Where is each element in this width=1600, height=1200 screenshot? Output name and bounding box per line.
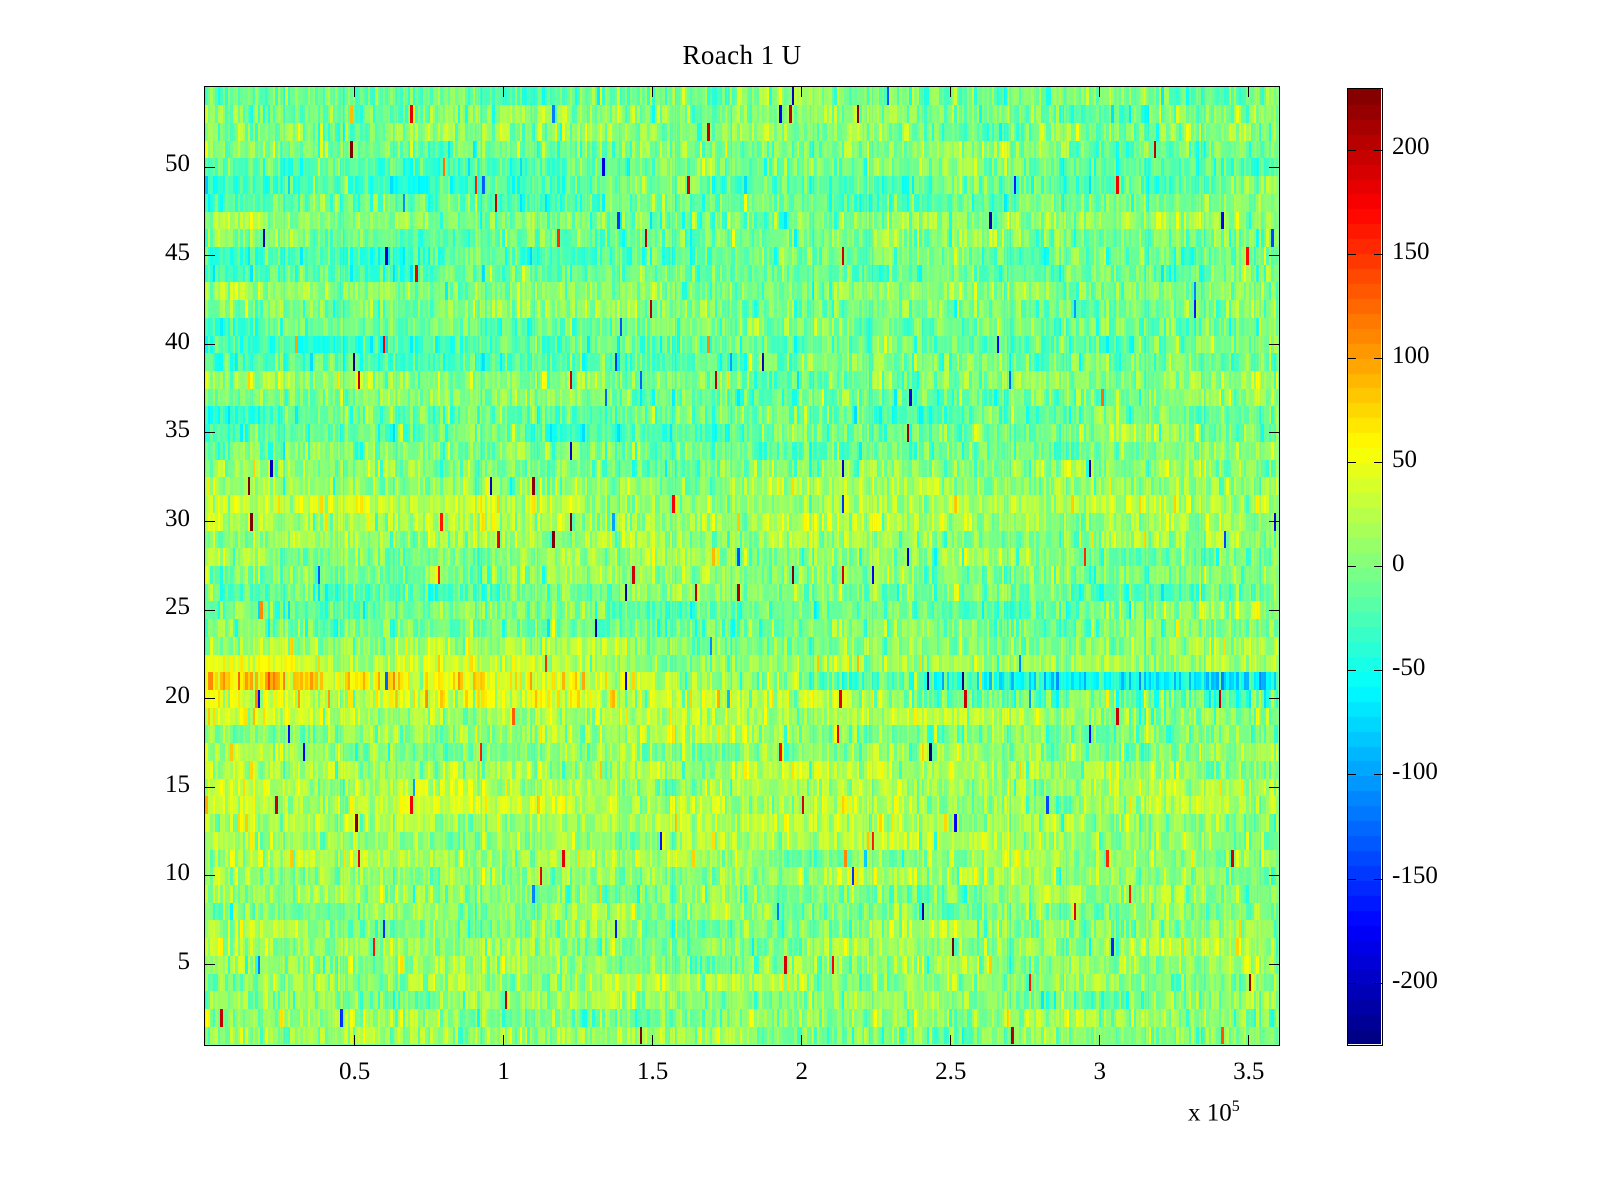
- y-tick-right-15: [1269, 787, 1280, 788]
- y-tick-label: 40: [120, 328, 190, 356]
- colorbar-tick-label: 50: [1392, 446, 1417, 474]
- y-tick-label: 30: [120, 505, 190, 533]
- colorbar-tick-label: -100: [1392, 758, 1438, 786]
- y-tick-right-50: [1269, 167, 1280, 168]
- y-tick-label: 25: [120, 593, 190, 621]
- x-tick-label: 1.5: [593, 1058, 713, 1086]
- y-tick-left-45: [204, 255, 215, 256]
- colorbar-tick-label: -200: [1392, 967, 1438, 995]
- colorbar-tick-left-100: [1347, 358, 1356, 359]
- y-tick-left-5: [204, 964, 215, 965]
- x-tick-label: 3: [1040, 1058, 1160, 1086]
- y-tick-right-45: [1269, 255, 1280, 256]
- y-tick-left-10: [204, 875, 215, 876]
- figure-title: Roach 1 U: [0, 40, 1484, 71]
- y-tick-right-35: [1269, 432, 1280, 433]
- x-tick-bottom-1.5: [652, 1035, 653, 1046]
- colorbar-tick-right--200: [1374, 983, 1383, 984]
- y-tick-left-30: [204, 521, 215, 522]
- y-tick-right-10: [1269, 875, 1280, 876]
- colorbar-tick-label: 150: [1392, 238, 1430, 266]
- y-tick-right-5: [1269, 964, 1280, 965]
- colorbar-tick-right-100: [1374, 358, 1383, 359]
- x-tick-top-0.5: [354, 86, 355, 97]
- colorbar-tick-label: -150: [1392, 862, 1438, 890]
- x-tick-top-3: [1099, 86, 1100, 97]
- y-tick-label: 10: [120, 859, 190, 887]
- colorbar-tick-left--100: [1347, 774, 1356, 775]
- y-tick-left-40: [204, 344, 215, 345]
- exponent-prefix: x 10: [1188, 1099, 1232, 1126]
- figure-canvas: Roach 1 U 50454035302520151050.511.522.5…: [0, 0, 1600, 1200]
- x-tick-label: 2: [742, 1058, 862, 1086]
- heatmap-axes[interactable]: [204, 86, 1280, 1046]
- colorbar-tick-left-0: [1347, 566, 1356, 567]
- y-tick-right-30: [1269, 521, 1280, 522]
- colorbar-tick-right--100: [1374, 774, 1383, 775]
- colorbar-tick-left-50: [1347, 462, 1356, 463]
- colorbar-tick-left-150: [1347, 254, 1356, 255]
- x-tick-bottom-3.5: [1248, 1035, 1249, 1046]
- colorbar-tick-right-50: [1374, 462, 1383, 463]
- x-tick-top-3.5: [1248, 86, 1249, 97]
- colorbar-tick-left--50: [1347, 670, 1356, 671]
- x-tick-label: 2.5: [891, 1058, 1011, 1086]
- y-tick-label: 50: [120, 150, 190, 178]
- x-tick-bottom-2: [801, 1035, 802, 1046]
- colorbar-tick-left-200: [1347, 150, 1356, 151]
- x-tick-label: 1: [444, 1058, 564, 1086]
- colorbar-tick-label: 200: [1392, 133, 1430, 161]
- y-tick-label: 15: [120, 771, 190, 799]
- y-tick-right-25: [1269, 610, 1280, 611]
- y-tick-right-40: [1269, 344, 1280, 345]
- x-tick-label: 0.5: [295, 1058, 415, 1086]
- colorbar-tick-right--50: [1374, 670, 1383, 671]
- x-tick-bottom-1: [503, 1035, 504, 1046]
- y-tick-left-35: [204, 432, 215, 433]
- x-tick-label: 3.5: [1189, 1058, 1309, 1086]
- exponent-power: 5: [1232, 1098, 1240, 1115]
- x-tick-bottom-2.5: [950, 1035, 951, 1046]
- y-tick-left-25: [204, 610, 215, 611]
- colorbar-tick-right-150: [1374, 254, 1383, 255]
- colorbar-tick-label: -50: [1392, 654, 1425, 682]
- colorbar-tick-label: 0: [1392, 550, 1405, 578]
- colorbar-tick-right--150: [1374, 879, 1383, 880]
- y-tick-right-20: [1269, 698, 1280, 699]
- x-tick-bottom-0.5: [354, 1035, 355, 1046]
- y-tick-label: 35: [120, 416, 190, 444]
- x-tick-top-2.5: [950, 86, 951, 97]
- x-tick-top-1.5: [652, 86, 653, 97]
- colorbar-tick-right-0: [1374, 566, 1383, 567]
- colorbar-tick-left--200: [1347, 983, 1356, 984]
- x-tick-bottom-3: [1099, 1035, 1100, 1046]
- y-tick-label: 45: [120, 239, 190, 267]
- colorbar-tick-left--150: [1347, 879, 1356, 880]
- y-tick-left-20: [204, 698, 215, 699]
- heatmap-image: [205, 87, 1278, 1044]
- x-tick-top-1: [503, 86, 504, 97]
- x-tick-top-2: [801, 86, 802, 97]
- y-tick-left-50: [204, 167, 215, 168]
- y-tick-label: 5: [120, 948, 190, 976]
- colorbar-tick-right-200: [1374, 150, 1383, 151]
- y-tick-label: 20: [120, 682, 190, 710]
- y-tick-left-15: [204, 787, 215, 788]
- colorbar-tick-label: 100: [1392, 342, 1430, 370]
- x-axis-exponent-label: x 105: [1188, 1098, 1240, 1127]
